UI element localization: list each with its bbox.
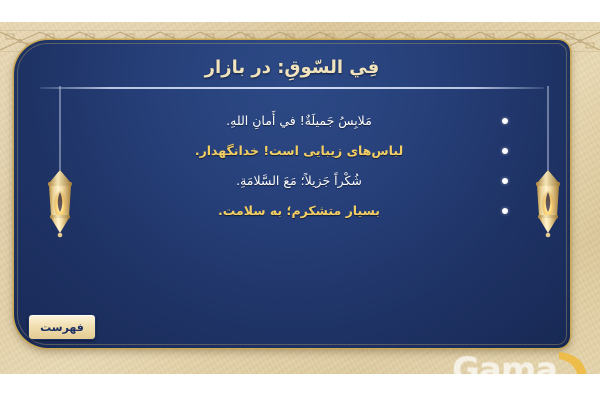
list-item-label: مَلابِسُ جَميلَةٌ! في أَمانِ اللهِ. xyxy=(110,113,488,130)
list-item: لباس‌های زیبایی است! خدانگهدار. xyxy=(110,136,508,166)
list-item: مَلابِسُ جَميلَةٌ! في أَمانِ اللهِ. xyxy=(110,106,508,136)
bullet-list: مَلابِسُ جَميلَةٌ! في أَمانِ اللهِ. لباس… xyxy=(110,106,508,226)
lantern-icon-left xyxy=(40,86,80,246)
title-zone: فِي السّوقِ: در بازار xyxy=(14,56,570,79)
list-item-label: شُكْراً جَزيلاً؛ مَعَ السَّلامَةِ. xyxy=(110,173,488,190)
list-item-label: لباس‌های زیبایی است! خدانگهدار. xyxy=(110,143,488,160)
slide-canvas: فِي السّوقِ: در بازار مَلابِسُ جَميلَةٌ!… xyxy=(0,0,600,400)
index-button-label: فهرست xyxy=(40,322,84,333)
lantern-icon-right xyxy=(528,86,568,246)
page-title: فِي السّوقِ: در بازار xyxy=(14,56,570,79)
bullet-dot-icon xyxy=(502,118,508,124)
title-divider xyxy=(40,87,544,89)
bullet-dot-icon xyxy=(502,148,508,154)
bottom-margin xyxy=(0,374,600,400)
bullet-dot-icon xyxy=(502,178,508,184)
bullet-dot-icon xyxy=(502,208,508,214)
list-item: بسیار متشکرم؛ به سلامت. xyxy=(110,196,508,226)
content-panel: فِي السّوقِ: در بازار مَلابِسُ جَميلَةٌ!… xyxy=(14,40,570,348)
list-item: شُكْراً جَزيلاً؛ مَعَ السَّلامَةِ. xyxy=(110,166,508,196)
index-button[interactable]: فهرست xyxy=(28,314,96,340)
list-item-label: بسیار متشکرم؛ به سلامت. xyxy=(110,203,488,220)
